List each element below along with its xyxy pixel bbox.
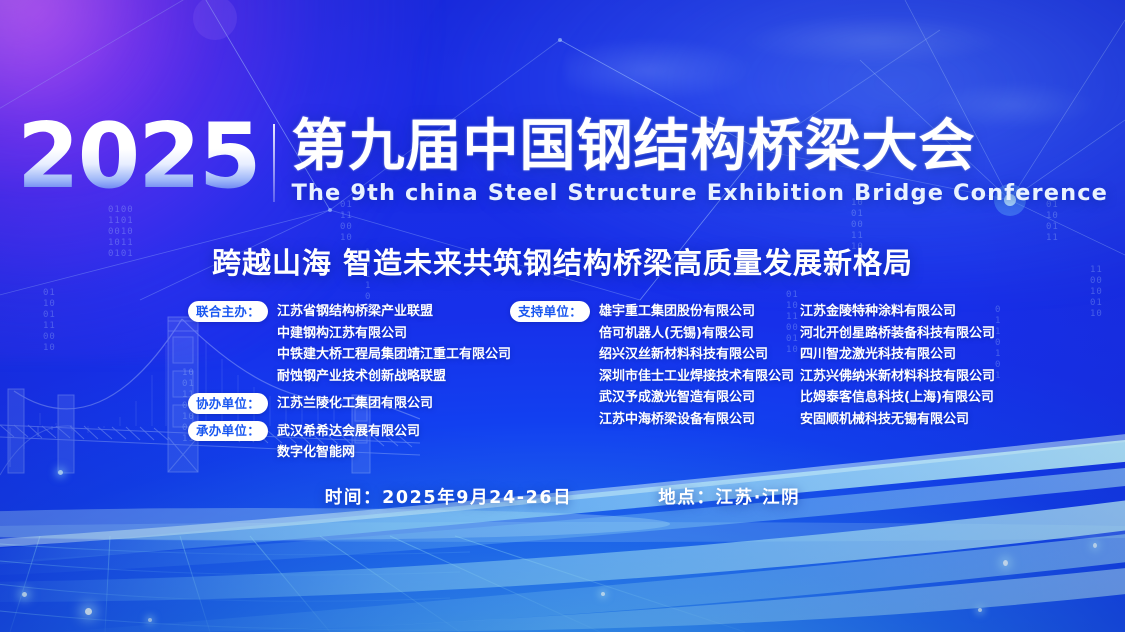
list-item: 数字化智能网 [277,442,420,464]
footer-info: 时间：2025年9月24-26日 地点：江苏·江阴 [0,484,1125,509]
list-item: 河北开创星路桥装备科技有限公司 [800,323,1020,345]
co-host-list: 江苏省钢结构桥梁产业联盟 中建钢构江苏有限公司 中铁建大桥工程局集团靖江重工有限… [277,300,511,387]
list-item: 四川智龙激光科技有限公司 [800,344,1020,366]
organizer-column-right: 江苏金陵特种涂料有限公司 河北开创星路桥装备科技有限公司 四川智龙激光科技有限公… [800,300,1020,430]
list-item: 武汉希希达会展有限公司 [277,421,420,443]
organizer-group-co-hosts: 联合主办： 江苏省钢结构桥梁产业联盟 中建钢构江苏有限公司 中铁建大桥工程局集团… [188,300,508,387]
organizer-column-middle: 支持单位： 雄宇重工集团股份有限公司 倍可机器人(无锡)有限公司 绍兴汉丝新材料… [510,300,800,435]
list-item: 江苏兴佛纳米新材料科技有限公司 [800,366,1020,388]
list-item: 倍可机器人(无锡)有限公司 [599,323,794,345]
list-item: 江苏金陵特种涂料有限公司 [800,301,1020,323]
conference-title-en: The 9th china Steel Structure Exhibition… [291,180,1108,206]
organizer-column-left: 联合主办： 江苏省钢结构桥梁产业联盟 中建钢构江苏有限公司 中铁建大桥工程局集团… [188,300,508,469]
supporter-list: 雄宇重工集团股份有限公司 倍可机器人(无锡)有限公司 绍兴汉丝新材料科技有限公司… [599,300,794,430]
list-item: 江苏兰陵化工集团有限公司 [277,393,433,415]
co-organizer-list: 江苏兰陵化工集团有限公司 [277,392,433,415]
organizer-group-supporters: 支持单位： 雄宇重工集团股份有限公司 倍可机器人(无锡)有限公司 绍兴汉丝新材料… [510,300,800,430]
conference-slogan: 跨越山海 智造未来共筑钢结构桥梁高质量发展新格局 [0,240,1125,282]
list-item: 绍兴汉丝新材料科技有限公司 [599,344,794,366]
banner-content: 2025 第九届中国钢结构桥梁大会 The 9th china Steel St… [0,0,1125,632]
list-item: 江苏中海桥梁设备有限公司 [599,409,794,431]
organizer-group-undertakers: 承办单位： 武汉希希达会展有限公司 数字化智能网 [188,420,508,464]
event-date: 时间：2025年9月24-26日 [325,484,572,509]
label-co-hosts: 联合主办： [188,301,268,322]
title-row: 2025 第九届中国钢结构桥梁大会 The 9th china Steel St… [0,118,1125,206]
supporter-list-continued: 江苏金陵特种涂料有限公司 河北开创星路桥装备科技有限公司 四川智龙激光科技有限公… [800,300,1020,430]
year-2025: 2025 [17,116,274,199]
label-supporters: 支持单位： [510,301,590,322]
title-divider [273,124,275,202]
organizer-group-co-organizers: 协办单位： 江苏兰陵化工集团有限公司 [188,392,508,415]
conference-title-cn: 第九届中国钢结构桥梁大会 [291,118,1108,175]
undertaker-list: 武汉希希达会展有限公司 数字化智能网 [277,420,420,464]
list-item: 耐蚀钢产业技术创新战略联盟 [277,366,511,388]
label-undertakers: 承办单位： [188,421,268,442]
list-item: 武汉予成激光智造有限公司 [599,387,794,409]
conference-banner: 01 10 01 11 00 10 0100 1101 0010 1011 01… [0,0,1125,632]
list-item: 安固顺机械科技无锡有限公司 [800,409,1020,431]
list-item: 江苏省钢结构桥梁产业联盟 [277,301,511,323]
event-location: 地点：江苏·江阴 [658,484,800,509]
list-item: 中铁建大桥工程局集团靖江重工有限公司 [277,344,511,366]
list-item: 中建钢构江苏有限公司 [277,323,511,345]
list-item: 深圳市佳士工业焊接技术有限公司 [599,366,794,388]
label-co-organizers: 协办单位： [188,393,268,414]
list-item: 雄宇重工集团股份有限公司 [599,301,794,323]
organizers-section: 联合主办： 江苏省钢结构桥梁产业联盟 中建钢构江苏有限公司 中铁建大桥工程局集团… [188,300,1085,469]
title-block: 第九届中国钢结构桥梁大会 The 9th china Steel Structu… [291,118,1108,206]
list-item: 比姆泰客信息科技(上海)有限公司 [800,387,1020,409]
